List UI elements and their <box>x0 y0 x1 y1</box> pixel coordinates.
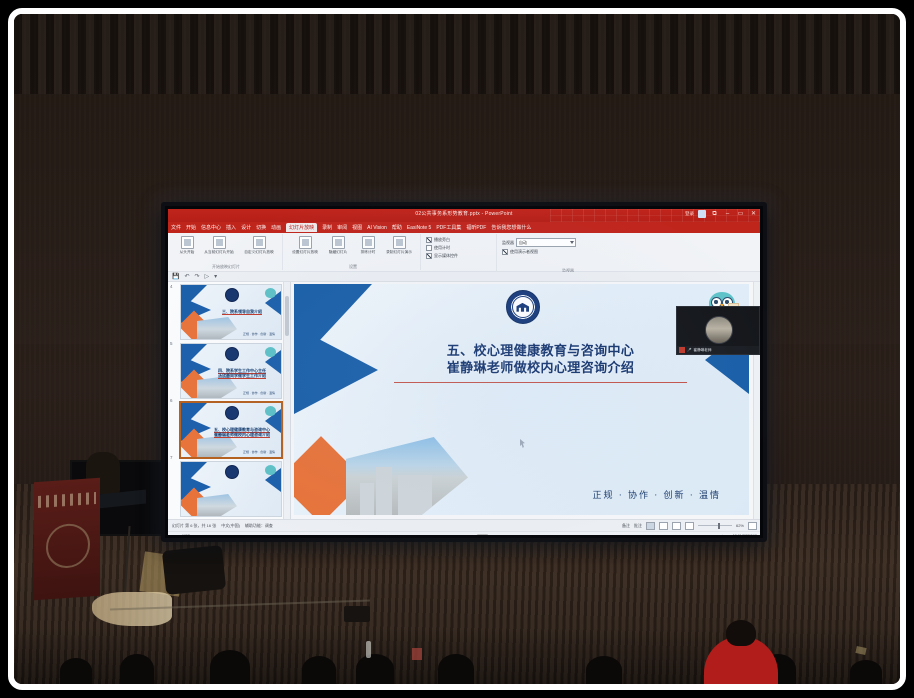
slide-number-7: 7 <box>170 455 173 460</box>
slide-blue-arrow-left <box>294 326 378 414</box>
campus-photo <box>346 437 468 515</box>
checkbox-play-narration[interactable]: 播放旁白 <box>426 237 496 243</box>
audience-head <box>586 656 622 684</box>
ribbon-tab-8[interactable]: 录制 <box>322 224 332 231</box>
slide-counter: 幻灯片 第 6 张，共 16 张 <box>172 523 216 529</box>
ribbon-tab-16[interactable]: 告诉我您想做什么 <box>491 224 531 231</box>
statusbar-right: 备注 批注 62% <box>622 522 757 530</box>
thumbnail-art: 五、校心理健康教育与咨询中心崔静琳老师做校内心理咨询介绍正规 · 协作 · 创新… <box>181 403 281 457</box>
thumb-owl-icon <box>265 347 276 357</box>
podium <box>34 478 100 601</box>
ribbon-tab-6[interactable]: 动画 <box>271 224 281 231</box>
slideshow-view-icon[interactable] <box>685 522 694 530</box>
custom-show-label: 自定义幻灯片放映 <box>240 250 278 254</box>
slide-title[interactable]: 五、校心理健康教育与咨询中心 崔静琳老师做校内心理咨询介绍 <box>380 342 701 376</box>
taskbar-tray: ^ ● ☁ ◯ ♪ 17:19 2022/11/9 <box>703 534 757 535</box>
thumbnail-list: 三、院系领导自我介绍正规 · 协作 · 创新 · 温情四、院系学生工作中心主任汤… <box>168 284 290 517</box>
ribbon-group-label-start: 开始放映幻灯片 <box>170 264 282 270</box>
led-screen-bezel: 02公共事务系形势教育.pptx - PowerPoint 登录 ⧉ – ▭ ✕ <box>161 202 767 542</box>
led-screen: 02公共事务系形势教育.pptx - PowerPoint 登录 ⧉ – ▭ ✕ <box>168 209 760 535</box>
thumbnail-art <box>181 462 281 516</box>
setup-show-icon <box>299 236 312 249</box>
fit-slide-icon[interactable] <box>748 522 757 530</box>
ribbon-tab-4[interactable]: 设计 <box>241 224 251 231</box>
ribbon-group-setup: 设置幻灯片放映 隐藏幻灯片 排练计时 <box>286 234 421 270</box>
restore-button[interactable]: ▭ <box>736 210 745 218</box>
record-slideshow-icon <box>393 236 406 249</box>
photo-frame: 02公共事务系形势教育.pptx - PowerPoint 登录 ⧉ – ▭ ✕ <box>8 8 906 690</box>
record-slideshow-button[interactable]: 录制幻灯片演示 <box>384 236 414 254</box>
undo-icon[interactable]: ↶ <box>184 273 189 280</box>
record-slideshow-label: 录制幻灯片演示 <box>384 250 414 254</box>
normal-view-icon[interactable] <box>646 522 655 530</box>
slide-title-line1: 五、校心理健康教育与咨询中心 <box>380 342 701 359</box>
play-from-start-button[interactable]: 从头开始 <box>172 236 202 254</box>
play-from-start-icon <box>181 236 194 249</box>
ceiling-grid <box>14 14 900 94</box>
sorter-view-icon[interactable] <box>659 522 668 530</box>
comments-button[interactable]: 批注 <box>634 523 642 529</box>
cup <box>412 648 422 660</box>
building-2 <box>398 475 432 515</box>
thumb-motto: 正规 · 协作 · 创新 · 温情 <box>243 332 275 336</box>
zoom-level: 62% <box>736 523 744 528</box>
thumb-crest-icon <box>225 406 239 420</box>
taskbar-weather[interactable]: 16°C 多云 <box>171 534 190 535</box>
audience-head <box>356 654 394 684</box>
equipment-bag <box>162 545 226 595</box>
notes-button[interactable]: 备注 <box>622 523 630 529</box>
redo-icon[interactable]: ↷ <box>195 273 200 280</box>
rehearse-timings-button[interactable]: 排练计时 <box>354 236 382 254</box>
webcam-overlay[interactable]: 🎤 崔静琳老师 <box>676 306 760 355</box>
document-title: 02公共事务系形势教育.pptx - PowerPoint <box>168 210 760 217</box>
thumb-campus-photo <box>197 494 237 516</box>
ribbon-tab-14[interactable]: PDF工具集 <box>436 224 461 231</box>
rec-badge-icon <box>679 347 685 353</box>
ribbon-tab-1[interactable]: 开始 <box>186 224 196 231</box>
thumbnail-art: 四、院系学生工作中心主任汤欣蕾同学做学生工作介绍正规 · 协作 · 创新 · 温… <box>181 344 281 398</box>
thumb-motto: 正规 · 协作 · 创新 · 温情 <box>243 450 275 454</box>
monitor-select[interactable]: 自动 <box>516 238 576 247</box>
slide-thumbnail-4[interactable]: 三、院系领导自我介绍正规 · 协作 · 创新 · 温情 <box>180 284 282 340</box>
hide-slide-icon <box>332 236 345 249</box>
audience-head <box>302 656 336 684</box>
minimize-button[interactable]: – <box>723 210 732 218</box>
ribbon-tab-list: 文件开始信息中心插入设计切换动画幻灯片放映录制审阅视图AI Vision帮助Ea… <box>168 222 760 233</box>
monitor-label: 监视器 <box>502 240 514 246</box>
audience-head <box>60 658 92 684</box>
setup-show-label: 设置幻灯片放映 <box>288 250 322 254</box>
play-from-current-label: 从当前幻灯片开始 <box>204 250 234 254</box>
hide-slide-label: 隐藏幻灯片 <box>324 250 352 254</box>
audience-head <box>210 650 250 684</box>
university-crest-icon <box>506 290 540 324</box>
ribbon-display-icon[interactable]: ⧉ <box>710 210 719 218</box>
thumbnail-scroll-knob[interactable] <box>285 296 289 336</box>
checkbox-use-timings-label: 使用计时 <box>434 245 450 251</box>
checkbox-show-media-controls-box <box>426 253 432 259</box>
windows-taskbar: 16°C 多云 🔍 搜索 <box>168 531 760 535</box>
auditorium-room: 02公共事务系形势教育.pptx - PowerPoint 登录 ⧉ – ▭ ✕ <box>14 14 900 684</box>
thumb-crest-icon <box>225 465 239 479</box>
thumb-motto: 正规 · 协作 · 创新 · 温情 <box>243 391 275 395</box>
checkbox-presenter-view-label: 使用演示者视图 <box>510 249 538 255</box>
photos-icon[interactable] <box>476 534 488 535</box>
thumb-owl-icon <box>265 406 276 416</box>
mouse-cursor <box>520 439 526 448</box>
checkbox-use-timings[interactable]: 使用计时 <box>426 245 496 251</box>
slide-title-line2: 崔静琳老师做校内心理咨询介绍 <box>380 359 701 376</box>
rehearse-timings-icon <box>362 236 375 249</box>
ribbon-tab-7[interactable]: 幻灯片放映 <box>286 223 317 232</box>
audience-head <box>850 660 882 684</box>
webcam-avatar <box>705 316 733 344</box>
thumb-campus-photo <box>197 435 237 457</box>
ribbon-tab-2[interactable]: 信息中心 <box>201 224 221 231</box>
ribbon-tab-9[interactable]: 审阅 <box>337 224 347 231</box>
thumb-crest-icon <box>225 347 239 361</box>
ribbon-tabs: 文件开始信息中心插入设计切换动画幻灯片放映录制审阅视图AI Vision帮助Ea… <box>168 222 760 233</box>
podium-plaque <box>38 492 96 508</box>
zoom-slider[interactable] <box>698 525 732 526</box>
water-bottle <box>366 641 371 658</box>
slide-thumbnail-6[interactable]: 五、校心理健康教育与咨询中心崔静琳老师做校内心理咨询介绍正规 · 协作 · 创新… <box>180 402 282 458</box>
editor-body: 三、院系领导自我介绍正规 · 协作 · 创新 · 温情四、院系学生工作中心主任汤… <box>168 282 760 519</box>
ribbon-tab-0[interactable]: 文件 <box>171 224 181 231</box>
thumbnail-art: 三、院系领导自我介绍正规 · 协作 · 创新 · 温情 <box>181 285 281 339</box>
thumb-title: 三、院系领导自我介绍 <box>211 309 273 314</box>
chevron-up-icon[interactable]: ^ <box>703 534 705 535</box>
ribbon-tab-5[interactable]: 切换 <box>256 224 266 231</box>
ribbon-group-label-setup: 设置 <box>286 264 420 270</box>
account-label[interactable]: 登录 <box>685 211 694 217</box>
thumb-crest-icon <box>225 288 239 302</box>
reading-view-icon[interactable] <box>672 522 681 530</box>
hide-slide-button[interactable]: 隐藏幻灯片 <box>324 236 352 254</box>
powerpoint-window: 02公共事务系形势教育.pptx - PowerPoint 登录 ⧉ – ▭ ✕ <box>168 209 760 535</box>
taskbar-clock[interactable]: 17:19 2022/11/9 <box>733 534 757 535</box>
volume-icon[interactable]: ♪ <box>728 534 730 535</box>
checkbox-play-narration-label: 播放旁白 <box>434 237 450 243</box>
slide-thumbnail-5[interactable]: 四、院系学生工作中心主任汤欣蕾同学做学生工作介绍正规 · 协作 · 创新 · 温… <box>180 343 282 399</box>
checkbox-show-media-controls[interactable]: 显示媒体控件 <box>426 253 496 259</box>
audience-head <box>438 654 474 684</box>
thumb-title: 四、院系学生工作中心主任汤欣蕾同学做学生工作介绍 <box>211 368 273 378</box>
accessibility-indicator[interactable]: 辅助功能：调查 <box>245 523 273 529</box>
cloud-tray-icon[interactable]: ☁ <box>713 534 717 535</box>
weather-temp: 16°C <box>182 534 190 535</box>
thumbnail-scrollbar[interactable] <box>283 282 290 519</box>
thumb-campus-photo <box>197 376 237 398</box>
play-from-current-icon <box>213 236 226 249</box>
thumb-title: 五、校心理健康教育与咨询中心崔静琳老师做校内心理咨询介绍 <box>211 427 273 437</box>
monitor-select-value: 自动 <box>519 240 527 246</box>
checkbox-presenter-view[interactable]: 使用演示者视图 <box>502 249 638 255</box>
checkbox-use-timings-box <box>426 245 432 251</box>
play-from-start-label: 从头开始 <box>172 250 202 254</box>
slide-number-6: 6 <box>170 398 173 403</box>
user-avatar-icon[interactable] <box>698 210 706 218</box>
ribbon-tab-11[interactable]: AI Vision <box>367 225 387 231</box>
thumb-owl-icon <box>265 288 276 298</box>
audience-head <box>120 654 154 684</box>
custom-show-button[interactable]: 自定义幻灯片放映 <box>240 236 278 254</box>
building-3 <box>360 483 374 515</box>
close-button[interactable]: ✕ <box>749 210 758 218</box>
ribbon-group-start-show: 从头开始 从当前幻灯片开始 自定义幻灯片放映 开始 <box>170 234 283 270</box>
slide-thumbnail-7[interactable] <box>180 461 282 517</box>
custom-show-icon <box>253 236 266 249</box>
building-1 <box>376 467 392 515</box>
titlebar-controls: 登录 ⧉ – ▭ ✕ <box>685 210 758 218</box>
sogou-ime-icon[interactable]: ● <box>708 534 710 535</box>
webcam-mic-icon: 🎤 <box>687 348 691 352</box>
setup-show-button[interactable]: 设置幻灯片放映 <box>288 236 322 254</box>
window-titlebar: 02公共事务系形势教育.pptx - PowerPoint 登录 ⧉ – ▭ ✕ <box>168 209 760 222</box>
webcam-participant-name: 崔静琳老师 <box>693 348 711 353</box>
thumb-campus-photo <box>197 317 237 339</box>
slide-number-4: 4 <box>170 284 173 289</box>
ribbon-content: 从头开始 从当前幻灯片开始 自定义幻灯片放映 开始 <box>168 233 760 272</box>
start-show-icon[interactable]: ▷ <box>205 273 210 280</box>
statusbar-left: 幻灯片 第 6 张，共 16 张 中文(中国) 辅助功能：调查 <box>168 523 273 529</box>
slide-motto: 正规 · 协作 · 创新 · 温情 <box>593 488 722 501</box>
webcam-name-bar: 🎤 崔静琳老师 <box>677 346 759 354</box>
checkbox-presenter-view-box <box>502 249 508 255</box>
slide-thumbnail-pane[interactable]: 三、院系领导自我介绍正规 · 协作 · 创新 · 温情四、院系学生工作中心主任汤… <box>168 282 291 519</box>
ribbon-tab-13[interactable]: EasiNote 5 <box>407 225 431 231</box>
checkbox-play-narration-box <box>426 237 432 243</box>
power-box <box>344 606 370 622</box>
ribbon-tab-12[interactable]: 帮助 <box>392 224 402 231</box>
audience-head <box>726 620 756 646</box>
powerpoint-statusbar: 幻灯片 第 6 张，共 16 张 中文(中国) 辅助功能：调查 备注 批注 <box>168 519 760 531</box>
thumb-owl-icon <box>265 465 276 475</box>
screenshot-root: 02公共事务系形势教育.pptx - PowerPoint 登录 ⧉ – ▭ ✕ <box>0 0 914 698</box>
ribbon-tab-3[interactable]: 插入 <box>226 224 236 231</box>
podium-crest-icon <box>46 522 90 569</box>
checkbox-show-media-controls-label: 显示媒体控件 <box>434 253 458 259</box>
save-icon[interactable]: 💾 <box>172 273 179 280</box>
ribbon-tab-15[interactable]: 福昕PDF <box>466 224 486 231</box>
zoom-slider-handle <box>718 523 720 529</box>
monitor-select-row[interactable]: 监视器 自动 <box>502 238 638 247</box>
owl-pupil-left <box>714 300 717 303</box>
quick-access-toolbar: 💾 ↶ ↷ ▷ ▾ <box>168 272 760 282</box>
slide-title-underline <box>394 382 687 383</box>
customize-icon[interactable]: ▾ <box>214 273 217 280</box>
slide-number-5: 5 <box>170 341 173 346</box>
ribbon-group-monitor: 监视器 自动 使用演示者视图 <box>498 234 638 274</box>
rehearse-timings-label: 排练计时 <box>354 250 382 254</box>
language-indicator[interactable]: 中文(中国) <box>221 523 240 529</box>
play-from-current-button[interactable]: 从当前幻灯片开始 <box>204 236 234 254</box>
taskbar-center: 🔍 搜索 <box>392 534 537 535</box>
network-icon[interactable]: ◯ <box>720 534 724 535</box>
ribbon-checkbox-column: 播放旁白 使用计时 显示媒体控件 <box>422 234 497 273</box>
ribbon-tab-10[interactable]: 视图 <box>352 224 362 231</box>
